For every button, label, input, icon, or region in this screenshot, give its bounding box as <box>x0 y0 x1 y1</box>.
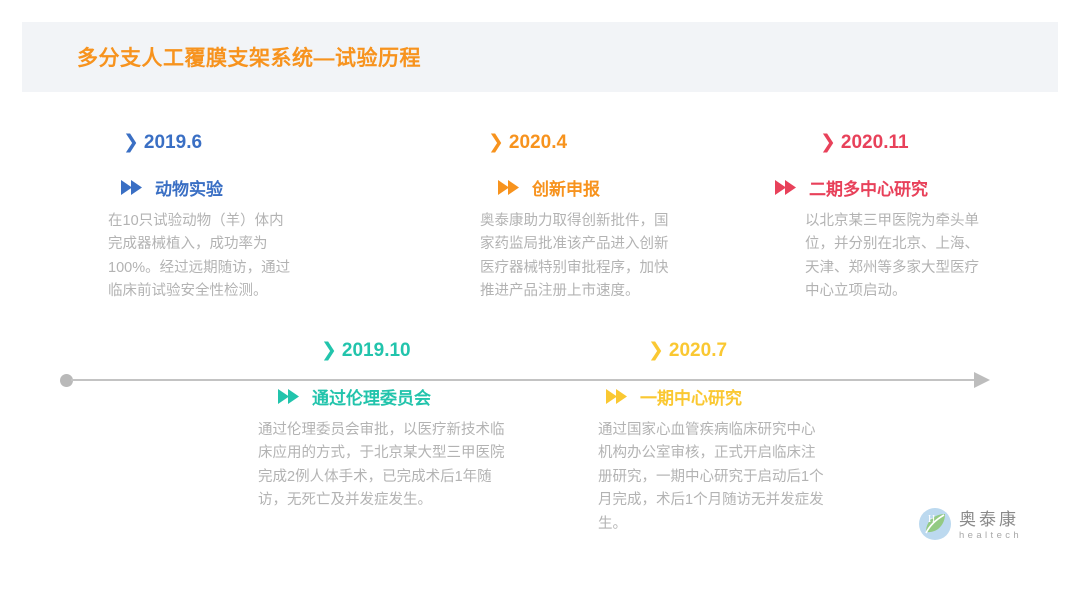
chevron-right-icon: ❯ <box>123 133 139 152</box>
milestone-body: 奥泰康助力取得创新批件，国家药监局批准该产品进入创新医疗器械特别审批程序，加快推… <box>480 210 675 304</box>
timeline-item-2020-7: ❯ 2020.7 一期中心研究 通过国家心血管疾病临床研究中心机构办公室审核，正… <box>598 340 838 536</box>
brand-logo: H 奥泰康 healtech <box>918 502 1048 550</box>
fast-forward-icon <box>121 180 143 195</box>
milestone-headline-label: 通过伦理委员会 <box>312 384 431 409</box>
chevron-right-icon: ❯ <box>648 341 664 360</box>
milestone-date: ❯ 2020.7 <box>648 340 838 362</box>
milestone-headline-label: 动物实验 <box>155 175 223 200</box>
header-banner: 多分支人工覆膜支架系统—试验历程 <box>22 22 1058 92</box>
milestone-date-label: 2020.4 <box>509 132 567 154</box>
logo-text-block: 奥泰康 healtech <box>959 510 1022 543</box>
milestone-date-label: 2019.6 <box>144 132 202 154</box>
milestone-body: 通过国家心血管疾病临床研究中心机构办公室审核，正式开启临床注册研究，一期中心研究… <box>598 419 826 536</box>
page-title: 多分支人工覆膜支架系统—试验历程 <box>77 42 421 72</box>
timeline-item-2020-11: ❯ 2020.11 二期多中心研究 以北京某三甲医院为牵头单位，并分别在北京、上… <box>775 132 995 304</box>
timeline-item-2019-10: ❯ 2019.10 通过伦理委员会 通过伦理委员会审批，以医疗新技术临床应用的方… <box>258 340 518 513</box>
logo-name: 奥泰康 <box>959 510 1022 530</box>
milestone-headline-label: 二期多中心研究 <box>809 175 928 200</box>
milestone-headline: 创新申报 <box>498 175 680 200</box>
milestone-headline-label: 创新申报 <box>532 175 600 200</box>
fast-forward-icon <box>278 389 300 404</box>
fast-forward-icon <box>606 389 628 404</box>
milestone-date: ❯ 2019.10 <box>321 340 518 362</box>
fast-forward-icon <box>775 180 797 195</box>
milestone-body: 在10只试验动物（羊）体内完成器械植入，成功率为100%。经过远期随访，通过临床… <box>108 210 294 304</box>
axis-line <box>71 379 976 381</box>
milestone-date: ❯ 2020.11 <box>820 132 995 154</box>
logo-tagline: healtech <box>959 530 1022 542</box>
milestone-headline: 动物实验 <box>121 175 308 200</box>
milestone-headline: 二期多中心研究 <box>775 175 995 200</box>
timeline-axis <box>60 372 995 388</box>
milestone-date-label: 2020.11 <box>841 132 909 154</box>
timeline-item-2019-6: ❯ 2019.6 动物实验 在10只试验动物（羊）体内完成器械植入，成功率为10… <box>108 132 308 304</box>
fast-forward-icon <box>498 180 520 195</box>
timeline-item-2020-4: ❯ 2020.4 创新申报 奥泰康助力取得创新批件，国家药监局批准该产品进入创新… <box>480 132 680 304</box>
milestone-headline-label: 一期中心研究 <box>640 384 742 409</box>
chevron-right-icon: ❯ <box>321 341 337 360</box>
chevron-right-icon: ❯ <box>488 133 504 152</box>
milestone-date-label: 2020.7 <box>669 340 727 362</box>
milestone-date: ❯ 2019.6 <box>123 132 308 154</box>
chevron-right-icon: ❯ <box>820 133 836 152</box>
milestone-body: 通过伦理委员会审批，以医疗新技术临床应用的方式，于北京某大型三甲医院完成2例人体… <box>258 419 510 513</box>
milestone-headline: 通过伦理委员会 <box>278 384 518 409</box>
milestone-date-label: 2019.10 <box>342 340 411 362</box>
axis-arrow-icon <box>974 372 990 388</box>
milestone-body: 以北京某三甲医院为牵头单位，并分别在北京、上海、天津、郑州等多家大型医疗中心立项… <box>805 210 990 304</box>
leaf-circle-emblem-icon: H <box>918 507 952 546</box>
milestone-headline: 一期中心研究 <box>606 384 838 409</box>
svg-text:H: H <box>928 514 935 525</box>
milestone-date: ❯ 2020.4 <box>488 132 680 154</box>
